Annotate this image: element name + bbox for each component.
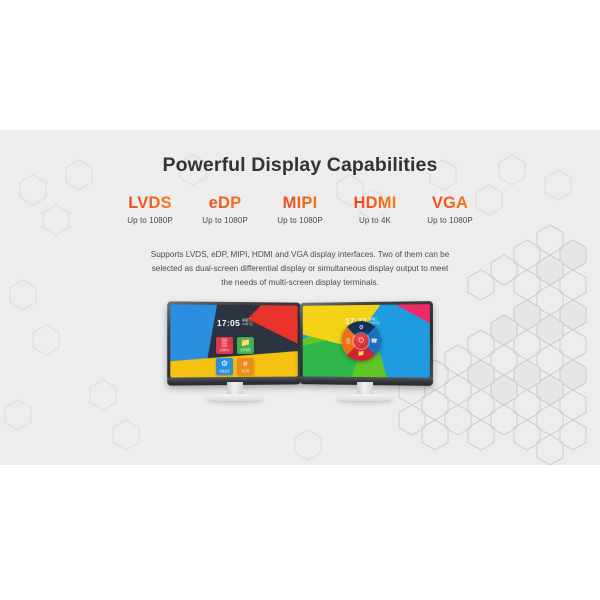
tile-label: 文件管理 — [240, 348, 250, 352]
interface-spec: Up to 1080P — [263, 216, 338, 225]
clock-date-line2: 10月7日 — [242, 322, 253, 326]
settings-icon[interactable]: ⚙ — [357, 323, 366, 332]
interface-item-mipi: MIPI Up to 1080P — [263, 194, 338, 225]
content-panel: Powerful Display Capabilities LVDS Up to… — [0, 130, 600, 465]
monitor-bezel: 17:05 星期三 10月7日 ▒ 应用中心 — [167, 301, 301, 385]
interface-spec: Up to 1080P — [413, 216, 488, 225]
apps-grid-icon: ▒ — [222, 339, 228, 347]
folder-icon[interactable]: 📁 — [357, 349, 366, 358]
browser-icon: e — [243, 360, 247, 368]
interface-name: eDP — [188, 194, 263, 213]
monitor-base — [207, 394, 263, 401]
folder-icon: 📁 — [240, 339, 250, 347]
interface-spec: Up to 1080P — [113, 216, 188, 225]
clock-time: 17:05 — [217, 318, 240, 328]
clock-date: 星期三 10月7日 — [242, 319, 253, 327]
left-monitor-screen: 17:05 星期三 10月7日 ▒ 应用中心 — [170, 304, 298, 377]
monitor-group: 17:05 星期三 10月7日 ▒ 应用中心 — [0, 302, 600, 432]
interface-name: MIPI — [263, 194, 338, 213]
interface-item-vga: VGA Up to 1080P — [413, 194, 488, 225]
radial-menu[interactable]: ⚙ ☎ 📁 ▒ ⏻ — [342, 321, 382, 361]
right-monitor: 17:33 星期三 10月7日 ⚙ ☎ 📁 ▒ ⏻ — [298, 302, 432, 385]
description-text: Supports LVDS, eDP, MIPI, HDMI and VGA d… — [145, 248, 455, 290]
page-title: Powerful Display Capabilities — [0, 154, 600, 177]
interface-name: HDMI — [338, 194, 413, 213]
interface-list: LVDS Up to 1080P eDP Up to 1080P MIPI Up… — [0, 194, 600, 225]
tile-label: 应用中心 — [219, 348, 229, 352]
app-tile-apps[interactable]: ▒ 应用中心 — [216, 337, 233, 354]
monitor-base — [337, 394, 393, 401]
left-clock-widget: 17:05 星期三 10月7日 — [217, 318, 253, 328]
right-monitor-screen: 17:33 星期三 10月7日 ⚙ ☎ 📁 ▒ ⏻ — [303, 304, 430, 378]
phone-icon[interactable]: ☎ — [370, 336, 379, 345]
power-hub-icon[interactable]: ⏻ — [354, 333, 369, 348]
interface-name: VGA — [413, 194, 488, 213]
interface-item-edp: eDP Up to 1080P — [188, 194, 263, 225]
interface-item-lvds: LVDS Up to 1080P — [113, 194, 188, 225]
tile-label: 浏览器 — [242, 369, 250, 373]
monitor-bezel: 17:33 星期三 10月7日 ⚙ ☎ 📁 ▒ ⏻ — [300, 301, 433, 386]
interface-spec: Up to 1080P — [188, 216, 263, 225]
apps-icon[interactable]: ▒ — [344, 337, 353, 346]
gear-icon: ⚙ — [221, 360, 228, 368]
app-tile-settings[interactable]: ⚙ 系统设置 — [216, 358, 233, 375]
tile-label: 系统设置 — [219, 369, 229, 373]
interface-spec: Up to 4K — [338, 216, 413, 225]
app-tile-files[interactable]: 📁 文件管理 — [237, 337, 254, 354]
app-tile-grid: ▒ 应用中心 📁 文件管理 ⚙ 系统设置 — [216, 337, 254, 375]
banner-image: Powerful Display Capabilities LVDS Up to… — [0, 0, 600, 600]
interface-name: LVDS — [113, 194, 188, 213]
interface-item-hdmi: HDMI Up to 4K — [338, 194, 413, 225]
left-monitor: 17:05 星期三 10月7日 ▒ 应用中心 — [168, 302, 302, 385]
app-tile-browser[interactable]: e 浏览器 — [237, 358, 254, 375]
